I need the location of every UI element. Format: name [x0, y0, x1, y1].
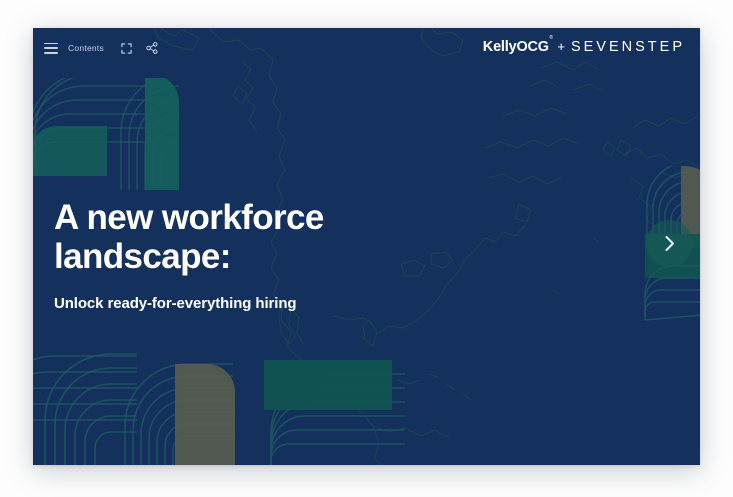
brand-lockup: KellyOCG® + SEVENSTEP	[483, 39, 685, 55]
deco-bottom-middle-right	[264, 360, 405, 465]
deco-olive-block	[175, 364, 235, 465]
fullscreen-expand-icon[interactable]	[121, 43, 132, 54]
deco-teal-block	[264, 360, 392, 410]
deco-top-left	[33, 72, 179, 190]
slide-headline: A new workforce landscape:	[54, 198, 324, 276]
deco-bottom-left	[33, 340, 137, 465]
next-slide-button[interactable]	[646, 220, 693, 267]
slide-text-block: A new workforce landscape: Unlock ready-…	[54, 198, 324, 312]
brand-kellyocg-text: KellyOCG	[483, 39, 549, 55]
slide-subheadline: Unlock ready-for-everything hiring	[54, 295, 324, 312]
brand-kellyocg: KellyOCG®	[483, 39, 553, 55]
brand-plus-symbol: +	[557, 39, 565, 54]
page-root: Contents	[0, 0, 733, 497]
share-icon[interactable]	[146, 42, 158, 54]
chevron-right-icon	[663, 235, 676, 252]
brand-sevenstep: SEVENSTEP	[571, 39, 685, 55]
hamburger-menu-icon[interactable]	[44, 43, 58, 54]
deco-bottom-middle	[125, 364, 235, 465]
contents-label[interactable]: Contents	[68, 43, 104, 53]
presentation-slide: Contents	[33, 28, 700, 465]
brand-trademark-symbol: ®	[549, 35, 552, 41]
